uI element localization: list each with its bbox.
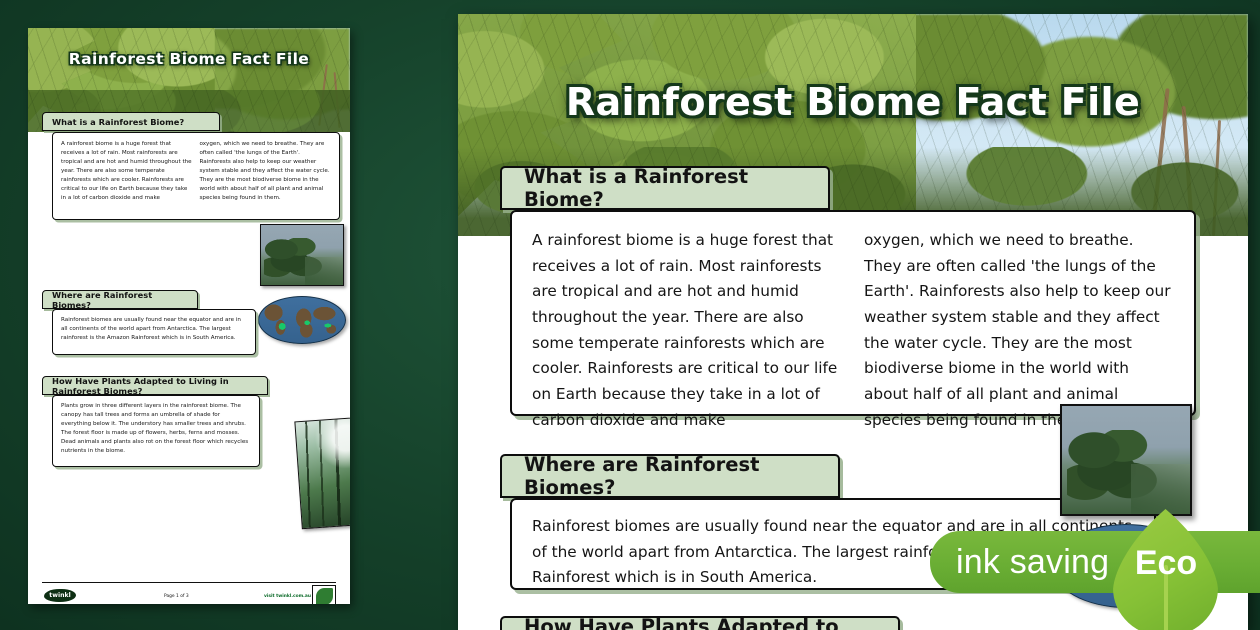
page-number: Page 1 of 3 (164, 594, 189, 599)
paragraph-column-right: oxygen, which we need to breathe. They a… (200, 140, 332, 203)
section-body-how-have-plants: Plants grow in three different layers in… (52, 395, 260, 467)
section-body-what-is: A rainforest biome is a huge forest that… (510, 210, 1196, 416)
paragraph: Rainforest biomes are usually found near… (61, 316, 247, 343)
website-link[interactable]: visit twinkl.com.au (264, 594, 311, 599)
paragraph-column-right: oxygen, which we need to breathe. They a… (864, 228, 1174, 434)
paragraph-column-left: A rainforest biome is a huge forest that… (532, 228, 864, 434)
section-body-what-is: A rainforest biome is a huge forest that… (52, 132, 340, 220)
eco-label: Eco (1124, 543, 1208, 583)
leaf-icon (316, 588, 333, 605)
page-title: Rainforest Biome Fact File (458, 80, 1248, 124)
section-body-where-are: Rainforest biomes are usually found near… (52, 309, 256, 355)
rainforest-canopy-photo (260, 224, 344, 286)
section-heading-how-have-plants: How Have Plants Adapted to Living in Rai… (500, 616, 900, 630)
paragraph-column-left: A rainforest biome is a huge forest that… (61, 140, 200, 203)
page-title: Rainforest Biome Fact File (28, 50, 350, 68)
document-thumbnail-page-1[interactable]: Rainforest Biome Fact File What is a Rai… (28, 28, 350, 604)
footer-divider (42, 582, 336, 583)
world-map-rainforest-regions (258, 296, 346, 344)
section-heading-what-is: What is a Rainforest Biome? (500, 166, 830, 210)
rainforest-canopy-photo (1060, 404, 1192, 516)
twinkl-logo[interactable]: twinkl (44, 589, 76, 602)
section-heading-where-are: Where are Rainforest Biomes? (42, 290, 198, 309)
eco-leaf-stamp (312, 585, 336, 604)
section-heading-what-is: What is a Rainforest Biome? (42, 112, 220, 131)
section-heading-how-have-plants: How Have Plants Adapted to Living in Rai… (42, 376, 268, 395)
section-heading-where-are: Where are Rainforest Biomes? (500, 454, 840, 498)
ink-saving-label: ink saving (956, 543, 1109, 582)
misty-forest-photo (294, 415, 350, 529)
ink-saving-eco-badge: ink saving Eco (930, 531, 1260, 593)
paragraph: Plants grow in three different layers in… (61, 402, 251, 456)
